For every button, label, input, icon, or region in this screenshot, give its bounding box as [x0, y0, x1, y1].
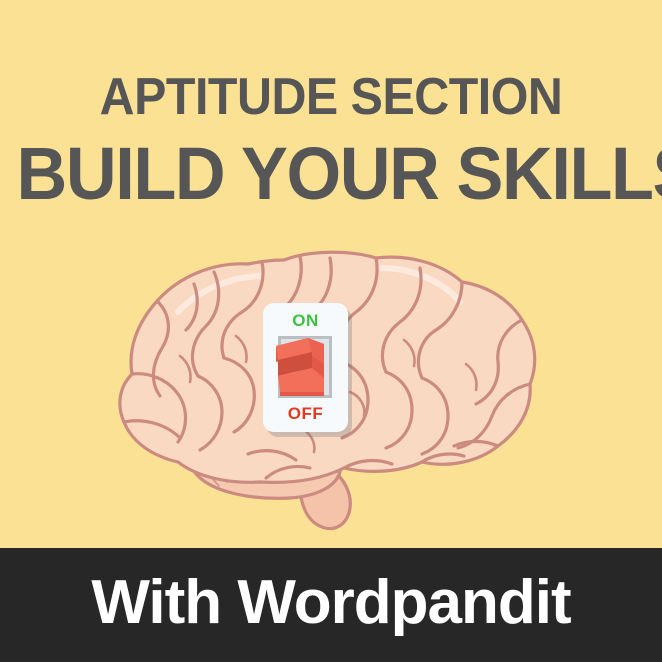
footer-brand-text: With Wordpandit — [91, 570, 570, 636]
poster-canvas: APTITUDE SECTION BUILD YOUR SKILLS — [0, 0, 662, 662]
footer-bar: With Wordpandit — [0, 548, 662, 662]
switch-lever[interactable] — [272, 334, 339, 400]
toggle-switch-plate[interactable]: ON OFF — [263, 303, 348, 432]
page-title-line1: APTITUDE SECTION — [23, 0, 639, 126]
switch-label-off: OFF — [288, 404, 324, 424]
page-title-line2: BUILD YOUR SKILLS — [17, 126, 646, 214]
switch-lever-icon — [272, 334, 339, 400]
switch-label-on: ON — [292, 311, 319, 331]
headings-block: APTITUDE SECTION BUILD YOUR SKILLS — [0, 0, 662, 214]
